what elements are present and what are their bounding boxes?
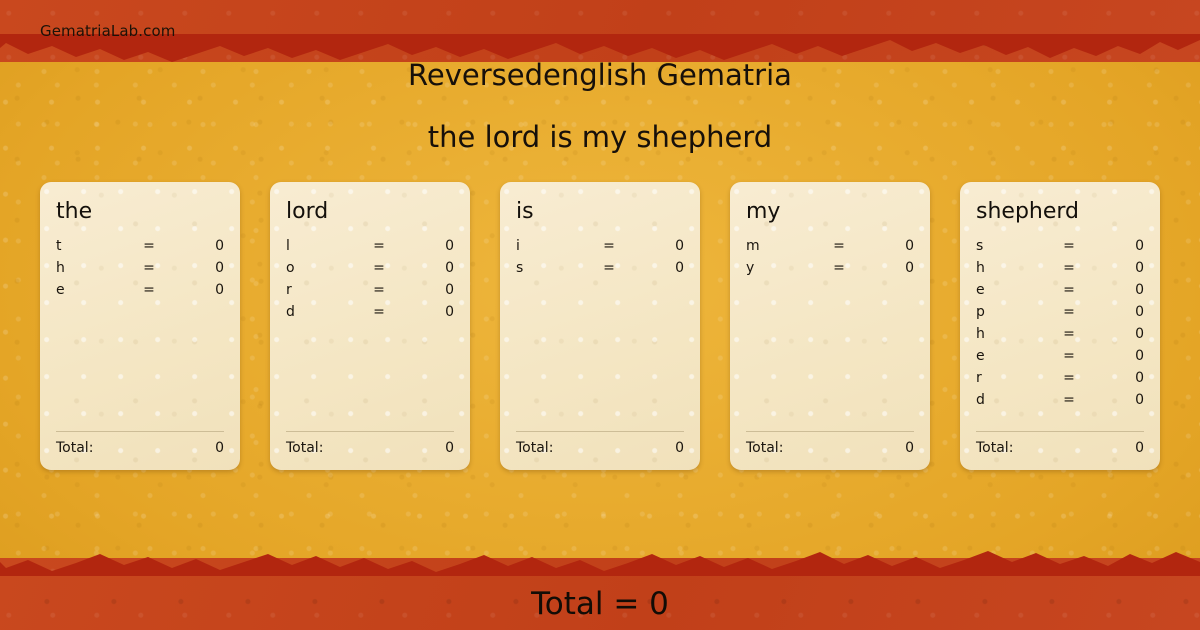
card-total-value: 0 <box>675 440 684 456</box>
word-card-title: is <box>516 200 684 224</box>
letter-value: 0 <box>1080 304 1144 320</box>
card-total-label: Total: <box>516 440 553 456</box>
letter-value-row: h = 0 <box>56 260 224 282</box>
card-total-row: Total: 0 <box>286 440 454 456</box>
phrase-subtitle: the lord is my shepherd <box>0 120 1200 154</box>
letter-value: 0 <box>850 238 914 254</box>
letter-value-row: l = 0 <box>286 238 454 260</box>
letter-label: p <box>976 304 1058 320</box>
equals-sign: = <box>1058 260 1080 276</box>
card-total-label: Total: <box>286 440 323 456</box>
card-total-row: Total: 0 <box>56 440 224 456</box>
letter-value-row: r = 0 <box>286 282 454 304</box>
letter-value: 0 <box>620 260 684 276</box>
equals-sign: = <box>1058 304 1080 320</box>
letter-value-row: m = 0 <box>746 238 914 260</box>
site-watermark: GematriaLab.com <box>40 22 175 40</box>
card-divider <box>56 431 224 432</box>
equals-sign: = <box>1058 392 1080 408</box>
letter-value-row: e = 0 <box>976 348 1144 370</box>
card-total-label: Total: <box>976 440 1013 456</box>
equals-sign: = <box>598 260 620 276</box>
card-total-label: Total: <box>746 440 783 456</box>
letter-value: 0 <box>620 238 684 254</box>
letter-value-row: r = 0 <box>976 370 1144 392</box>
card-total-value: 0 <box>905 440 914 456</box>
letter-value: 0 <box>160 260 224 276</box>
equals-sign: = <box>368 282 390 298</box>
letter-label: y <box>746 260 828 276</box>
letter-value: 0 <box>1080 370 1144 386</box>
equals-sign: = <box>1058 282 1080 298</box>
letter-value-list: t = 0 h = 0 e = 0 <box>56 238 224 431</box>
word-card-list: the t = 0 h = 0 e = 0 <box>40 182 1160 470</box>
card-total-value: 0 <box>215 440 224 456</box>
word-card[interactable]: the t = 0 h = 0 e = 0 <box>40 182 240 470</box>
grand-total: Total = 0 <box>0 586 1200 622</box>
letter-label: d <box>976 392 1058 408</box>
letter-label: h <box>976 326 1058 342</box>
letter-value-row: s = 0 <box>516 260 684 282</box>
equals-sign: = <box>368 238 390 254</box>
card-total-value: 0 <box>445 440 454 456</box>
equals-sign: = <box>138 238 160 254</box>
letter-value-row: t = 0 <box>56 238 224 260</box>
equals-sign: = <box>368 260 390 276</box>
equals-sign: = <box>1058 370 1080 386</box>
letter-value-row: i = 0 <box>516 238 684 260</box>
letter-label: e <box>56 282 138 298</box>
card-total-row: Total: 0 <box>516 440 684 456</box>
letter-label: h <box>56 260 138 276</box>
card-divider <box>976 431 1144 432</box>
card-divider <box>286 431 454 432</box>
letter-label: t <box>56 238 138 254</box>
letter-value: 0 <box>1080 282 1144 298</box>
word-card[interactable]: shepherd s = 0 h = 0 e = 0 p <box>960 182 1160 470</box>
letter-value: 0 <box>390 304 454 320</box>
letter-value-list: l = 0 o = 0 r = 0 d = 0 <box>286 238 454 431</box>
letter-value-row: s = 0 <box>976 238 1144 260</box>
word-card-title: the <box>56 200 224 224</box>
letter-value-row: d = 0 <box>286 304 454 326</box>
letter-label: l <box>286 238 368 254</box>
letter-value: 0 <box>160 282 224 298</box>
word-card[interactable]: my m = 0 y = 0 Total: 0 <box>730 182 930 470</box>
letter-label: h <box>976 260 1058 276</box>
letter-label: d <box>286 304 368 320</box>
letter-value: 0 <box>390 282 454 298</box>
letter-value: 0 <box>1080 392 1144 408</box>
letter-value: 0 <box>390 238 454 254</box>
letter-value: 0 <box>390 260 454 276</box>
letter-label: r <box>976 370 1058 386</box>
letter-label: e <box>976 282 1058 298</box>
card-total-row: Total: 0 <box>746 440 914 456</box>
equals-sign: = <box>368 304 390 320</box>
equals-sign: = <box>828 238 850 254</box>
letter-value: 0 <box>1080 238 1144 254</box>
letter-value: 0 <box>160 238 224 254</box>
letter-label: s <box>516 260 598 276</box>
word-card[interactable]: lord l = 0 o = 0 r = 0 d <box>270 182 470 470</box>
card-divider <box>516 431 684 432</box>
letter-value-row: y = 0 <box>746 260 914 282</box>
card-divider <box>746 431 914 432</box>
word-card-title: lord <box>286 200 454 224</box>
equals-sign: = <box>598 238 620 254</box>
gematria-result-canvas: GematriaLab.com Reversedenglish Gematria… <box>0 0 1200 630</box>
equals-sign: = <box>828 260 850 276</box>
letter-value: 0 <box>1080 326 1144 342</box>
letter-value-row: p = 0 <box>976 304 1144 326</box>
letter-value: 0 <box>850 260 914 276</box>
equals-sign: = <box>138 260 160 276</box>
letter-value: 0 <box>1080 348 1144 364</box>
letter-value-row: e = 0 <box>56 282 224 304</box>
equals-sign: = <box>1058 238 1080 254</box>
equals-sign: = <box>1058 326 1080 342</box>
letter-value-list: s = 0 h = 0 e = 0 p = 0 <box>976 238 1144 431</box>
letter-value-row: o = 0 <box>286 260 454 282</box>
top-torn-paper-band <box>0 0 1200 62</box>
letter-label: m <box>746 238 828 254</box>
equals-sign: = <box>138 282 160 298</box>
card-total-label: Total: <box>56 440 93 456</box>
letter-value: 0 <box>1080 260 1144 276</box>
word-card[interactable]: is i = 0 s = 0 Total: 0 <box>500 182 700 470</box>
letter-value-row: h = 0 <box>976 260 1144 282</box>
letter-value-list: i = 0 s = 0 <box>516 238 684 431</box>
letter-label: e <box>976 348 1058 364</box>
page-title: Reversedenglish Gematria <box>0 58 1200 92</box>
letter-value-row: e = 0 <box>976 282 1144 304</box>
card-total-row: Total: 0 <box>976 440 1144 456</box>
letter-label: s <box>976 238 1058 254</box>
letter-value-row: d = 0 <box>976 392 1144 414</box>
word-card-title: my <box>746 200 914 224</box>
word-card-title: shepherd <box>976 200 1144 224</box>
letter-label: i <box>516 238 598 254</box>
letter-label: r <box>286 282 368 298</box>
card-total-value: 0 <box>1135 440 1144 456</box>
letter-value-row: h = 0 <box>976 326 1144 348</box>
letter-label: o <box>286 260 368 276</box>
equals-sign: = <box>1058 348 1080 364</box>
letter-value-list: m = 0 y = 0 <box>746 238 914 431</box>
